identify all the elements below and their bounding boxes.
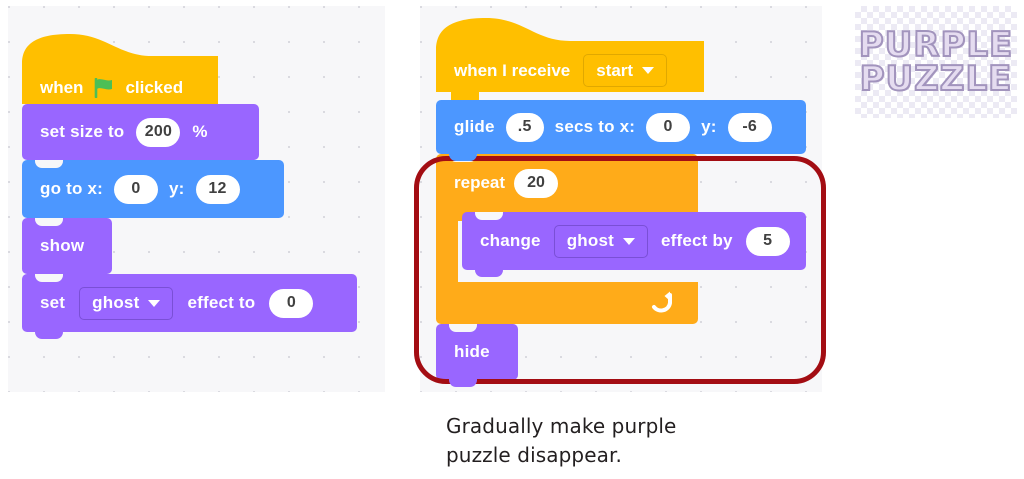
effect-dropdown-value: ghost — [92, 293, 139, 313]
hat-block-shape — [22, 34, 218, 112]
effect-dropdown-value: ghost — [567, 231, 614, 251]
script-panel-right: when I receive start glide .5 secs to x:… — [420, 6, 822, 392]
block-hide[interactable]: hide — [436, 324, 518, 380]
repeat-times-input[interactable]: 20 — [514, 169, 558, 198]
effect-dropdown[interactable]: ghost — [79, 287, 173, 320]
repeat-header[interactable]: repeat 20 — [436, 154, 698, 212]
glide-y-input[interactable]: -6 — [728, 113, 772, 142]
go-to-x-input[interactable]: 0 — [114, 175, 158, 204]
block-change-effect-by[interactable]: change ghost effect by 5 — [462, 212, 806, 270]
effect-change-input[interactable]: 5 — [746, 227, 790, 256]
script-panel-left: when clicked set size to 200 % go to x: … — [8, 6, 385, 392]
effect-dropdown[interactable]: ghost — [554, 225, 648, 258]
effect-to-label: effect to — [187, 293, 255, 313]
caption-line-2: puzzle disappear. — [446, 441, 786, 470]
clicked-label: clicked — [125, 78, 183, 98]
block-go-to-xy[interactable]: go to x: 0 y: 12 — [22, 160, 284, 218]
when-i-receive-label: when I receive — [454, 61, 570, 81]
chevron-down-icon — [148, 300, 160, 307]
block-set-size-to[interactable]: set size to 200 % — [22, 104, 259, 160]
chevron-down-icon — [623, 238, 635, 245]
go-to-x-label: go to x: — [40, 179, 103, 199]
caption: Gradually make purple puzzle disappear. — [446, 412, 786, 470]
block-label-row: when I receive start — [454, 54, 667, 87]
glide-secs-input[interactable]: .5 — [506, 113, 544, 142]
green-flag-icon — [93, 78, 115, 98]
glide-secs-to-x-label: secs to x: — [555, 117, 635, 137]
go-to-y-input[interactable]: 12 — [196, 175, 240, 204]
set-size-to-label: set size to — [40, 122, 124, 142]
repeat-arm — [436, 212, 458, 282]
glide-y-label: y: — [701, 117, 717, 137]
loop-arrow-icon — [648, 291, 674, 315]
percent-label: % — [192, 122, 207, 142]
change-label: change — [480, 231, 541, 251]
block-glide-secs-to-xy[interactable]: glide .5 secs to x: 0 y: -6 — [436, 100, 806, 154]
block-show[interactable]: show — [22, 218, 112, 274]
chevron-down-icon — [642, 67, 654, 74]
block-set-effect-to[interactable]: set ghost effect to 0 — [22, 274, 357, 332]
when-label: when — [40, 78, 83, 98]
glide-label: glide — [454, 117, 495, 137]
show-label: show — [40, 236, 84, 256]
effect-value-input[interactable]: 0 — [269, 289, 313, 318]
purple-puzzle-logo: PURPLE PUZZLE — [855, 6, 1017, 118]
logo-line-1: PURPLE — [859, 28, 1014, 62]
logo-line-2: PUZZLE — [860, 62, 1013, 96]
caption-line-1: Gradually make purple — [446, 412, 786, 441]
block-label-row: when clicked — [40, 78, 183, 98]
set-label: set — [40, 293, 65, 313]
hide-label: hide — [454, 342, 490, 362]
effect-by-label: effect by — [661, 231, 733, 251]
block-when-flag-clicked[interactable]: when clicked — [22, 34, 218, 112]
message-dropdown-value: start — [596, 61, 633, 81]
block-when-i-receive[interactable]: when I receive start — [436, 18, 704, 100]
size-value-input[interactable]: 200 — [136, 118, 180, 147]
glide-x-input[interactable]: 0 — [646, 113, 690, 142]
message-dropdown[interactable]: start — [583, 54, 667, 87]
repeat-footer — [436, 282, 698, 324]
repeat-label: repeat — [454, 173, 505, 193]
go-to-y-label: y: — [169, 179, 185, 199]
